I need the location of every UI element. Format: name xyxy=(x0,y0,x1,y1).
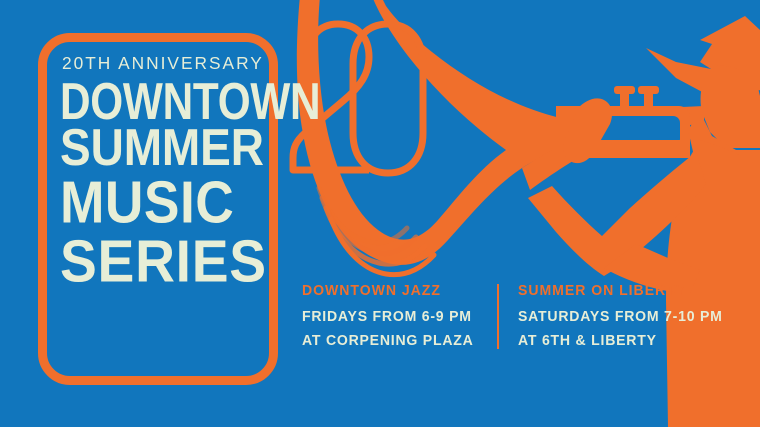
event-summer-on-liberty: SUMMER ON LIBERTY SATURDAYS FROM 7-10 PM… xyxy=(518,284,729,349)
anniversary-label: 20TH ANNIVERSARY xyxy=(62,55,276,73)
event-title: SUMMER ON LIBERTY xyxy=(518,284,723,299)
event-downtown-jazz: DOWNTOWN JAZZ FRIDAYS FROM 6-9 PM AT COR… xyxy=(302,284,479,349)
lockup-text-block: 20TH ANNIVERSARY DOWNTOWN SUMMER MUSIC S… xyxy=(38,33,278,385)
event-column-divider xyxy=(497,284,499,349)
event-details: DOWNTOWN JAZZ FRIDAYS FROM 6-9 PM AT COR… xyxy=(302,284,729,349)
title-line-music: MUSIC xyxy=(60,177,313,227)
event-location: AT 6TH & LIBERTY xyxy=(518,334,723,349)
title-line-downtown: DOWNTOWN xyxy=(60,80,261,123)
poster-canvas: 20TH ANNIVERSARY DOWNTOWN SUMMER MUSIC S… xyxy=(0,0,760,427)
event-location: AT CORPENING PLAZA xyxy=(302,334,474,349)
event-schedule: FRIDAYS FROM 6-9 PM xyxy=(302,310,474,325)
title-line-series: SERIES xyxy=(60,236,322,286)
event-title: DOWNTOWN JAZZ xyxy=(302,284,474,299)
event-schedule: SATURDAYS FROM 7-10 PM xyxy=(518,310,723,325)
title-line-summer: SUMMER xyxy=(60,126,278,169)
